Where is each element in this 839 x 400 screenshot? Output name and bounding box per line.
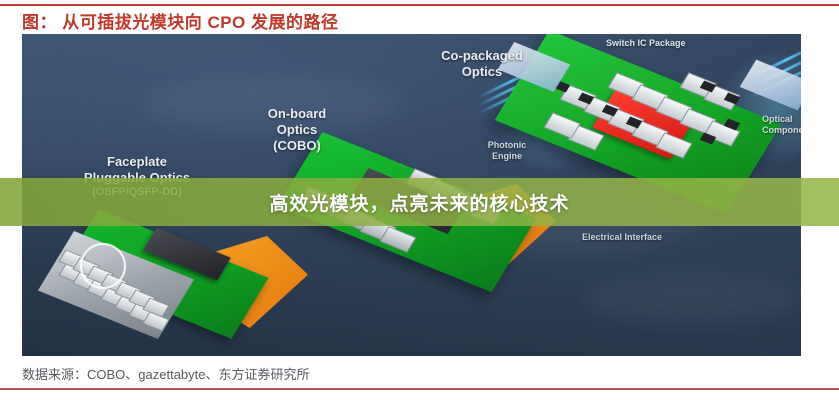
overlay-banner-text: 高效光模块，点亮未来的核心技术 bbox=[269, 189, 569, 216]
faceplate-pluggable-module bbox=[52, 230, 272, 340]
cloud-wisp bbox=[582, 274, 801, 324]
zoom-highlight-circle bbox=[80, 243, 126, 289]
figure-title: 图： 从可插拔光模块向 CPO 发展的路径 bbox=[22, 8, 339, 33]
figure-page: 图： 从可插拔光模块向 CPO 发展的路径 bbox=[0, 0, 839, 400]
label-copackaged-optics: Co-packaged Optics bbox=[392, 48, 572, 80]
label-photonic-engine: Photonic Engine bbox=[452, 140, 562, 162]
label-switch-ic-package: Switch IC Package bbox=[606, 38, 776, 49]
bottom-divider bbox=[0, 388, 839, 390]
overlay-banner: 高效光模块，点亮未来的核心技术 bbox=[0, 178, 839, 226]
figure-source: 数据来源：COBO、gazettabyte、东方证券研究所 bbox=[22, 364, 310, 383]
label-optical-components: Optical Components bbox=[762, 114, 801, 136]
label-electrical-interface: Electrical Interface bbox=[582, 232, 722, 243]
top-divider bbox=[0, 4, 839, 6]
label-onboard-optics: On-board Optics (COBO) bbox=[227, 106, 367, 154]
